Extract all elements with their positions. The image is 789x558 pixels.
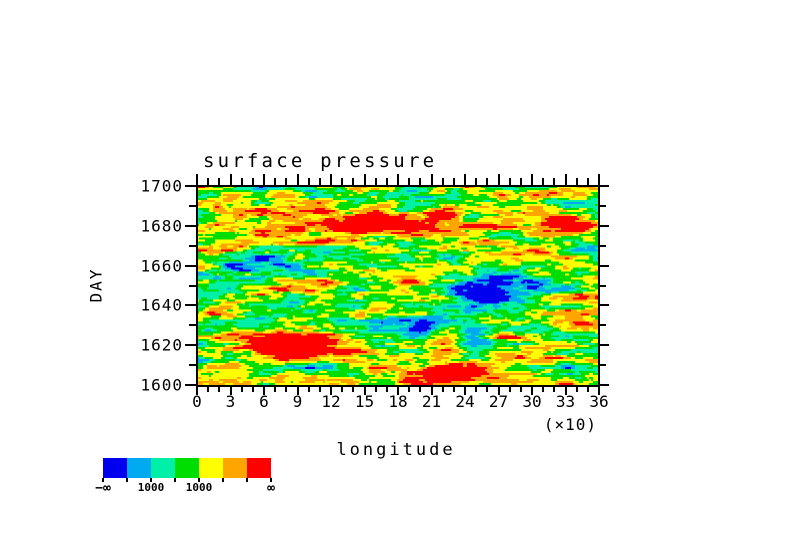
x-tick-label: 0	[192, 392, 202, 411]
axis-tick	[600, 344, 609, 346]
x-tick-label: 9	[293, 392, 303, 411]
axis-tick	[330, 174, 332, 185]
colorbar-tick	[222, 478, 224, 482]
axis-tick	[308, 386, 310, 392]
axis-tick	[375, 386, 377, 392]
axis-tick	[207, 178, 209, 185]
axis-tick	[241, 386, 243, 392]
axis-tick	[542, 178, 544, 185]
axis-tick	[565, 174, 567, 185]
colorbar-tick	[246, 478, 248, 482]
axis-tick	[486, 178, 488, 185]
x-axis-title: longitude	[336, 440, 455, 460]
colorbar-band	[199, 458, 223, 478]
axis-tick	[218, 386, 220, 392]
axis-tick	[498, 174, 500, 185]
y-tick-label: 1640	[140, 296, 183, 315]
axis-tick	[207, 386, 209, 392]
y-tick-label: 1600	[140, 376, 183, 395]
axis-tick	[419, 386, 421, 392]
axis-tick	[600, 185, 609, 187]
axis-tick	[375, 178, 377, 185]
y-tick-label: 1620	[140, 336, 183, 355]
x-tick-label: 12	[321, 392, 340, 411]
x-tick-label: 15	[355, 392, 374, 411]
colorbar-band	[151, 458, 175, 478]
axis-tick	[274, 178, 276, 185]
axis-tick	[600, 265, 609, 267]
axis-tick	[352, 386, 354, 392]
x-tick-label: 24	[455, 392, 474, 411]
axis-tick	[600, 205, 606, 207]
axis-top	[197, 185, 600, 187]
axis-tick	[576, 386, 578, 392]
axis-tick	[486, 386, 488, 392]
axis-tick	[241, 178, 243, 185]
axis-tick	[185, 304, 196, 306]
axis-tick	[520, 178, 522, 185]
axis-tick	[386, 178, 388, 185]
colorbar-tick-label: 1000	[138, 481, 165, 494]
page-title: surface pressure	[203, 150, 437, 172]
x-tick-label: 18	[388, 392, 407, 411]
axis-tick	[285, 178, 287, 185]
heatmap-plot-area[interactable]	[197, 186, 599, 385]
axis-tick	[464, 174, 466, 185]
y-tick-label: 1680	[140, 216, 183, 235]
axis-tick	[475, 386, 477, 392]
axis-tick	[230, 174, 232, 185]
axis-tick	[542, 386, 544, 392]
axis-tick	[453, 178, 455, 185]
axis-tick	[442, 178, 444, 185]
axis-tick	[600, 245, 606, 247]
axis-tick	[263, 174, 265, 185]
axis-tick	[419, 178, 421, 185]
axis-tick	[553, 178, 555, 185]
axis-tick	[600, 285, 606, 287]
axis-tick	[185, 265, 196, 267]
axis-tick	[408, 178, 410, 185]
colorbar-tick-label: 1000	[186, 481, 213, 494]
colorbar-tick-label: −∞	[95, 481, 111, 496]
axis-tick	[600, 225, 609, 227]
x-tick-label: 30	[522, 392, 541, 411]
x-tick-label: 36	[589, 392, 608, 411]
axis-tick	[297, 174, 299, 185]
axis-tick	[189, 324, 196, 326]
axis-tick	[576, 178, 578, 185]
axis-tick	[408, 386, 410, 392]
axis-tick	[189, 245, 196, 247]
axis-tick	[397, 174, 399, 185]
axis-tick	[509, 178, 511, 185]
axis-tick	[319, 178, 321, 185]
figure-canvas: surface pressure 0369121518212427303336 …	[0, 0, 789, 558]
axis-tick	[587, 178, 589, 185]
colorbar-band	[127, 458, 151, 478]
axis-tick	[442, 386, 444, 392]
axis-tick	[196, 174, 198, 185]
axis-tick	[364, 174, 366, 185]
axis-tick	[553, 386, 555, 392]
colorbar[interactable]	[103, 458, 271, 478]
x-tick-label: 21	[422, 392, 441, 411]
axis-tick	[185, 225, 196, 227]
axis-tick	[308, 178, 310, 185]
axis-tick	[285, 386, 287, 392]
colorbar-tick-label: ∞	[267, 481, 275, 496]
axis-tick	[341, 386, 343, 392]
axis-tick	[600, 384, 609, 386]
axis-tick	[531, 174, 533, 185]
colorbar-tick	[126, 478, 128, 482]
axis-tick	[189, 285, 196, 287]
axis-tick	[352, 178, 354, 185]
axis-tick	[189, 364, 196, 366]
axis-tick	[341, 178, 343, 185]
axis-tick	[598, 174, 600, 185]
axis-tick	[185, 185, 196, 187]
colorbar-band	[223, 458, 247, 478]
colorbar-tick	[174, 478, 176, 482]
x-tick-label: 27	[489, 392, 508, 411]
axis-left	[196, 185, 198, 387]
axis-tick	[509, 386, 511, 392]
axis-tick	[189, 205, 196, 207]
colorbar-band	[175, 458, 199, 478]
axis-tick	[600, 304, 609, 306]
axis-tick	[252, 386, 254, 392]
colorbar-band	[247, 458, 271, 478]
x-tick-label: 3	[226, 392, 236, 411]
y-tick-label: 1660	[140, 256, 183, 275]
axis-tick	[431, 174, 433, 185]
x-tick-label: 33	[556, 392, 575, 411]
axis-tick	[274, 386, 276, 392]
axis-tick	[185, 384, 196, 386]
axis-tick	[600, 324, 606, 326]
heatmap-image	[197, 186, 599, 385]
axis-tick	[218, 178, 220, 185]
axis-tick	[600, 364, 606, 366]
axis-tick	[252, 178, 254, 185]
colorbar-band	[103, 458, 127, 478]
y-tick-label: 1700	[140, 177, 183, 196]
y-axis-title: DAY	[87, 268, 106, 303]
axis-tick	[185, 344, 196, 346]
axis-tick	[475, 178, 477, 185]
x-axis-multiplier-label: (×10)	[544, 415, 597, 434]
x-tick-label: 6	[259, 392, 269, 411]
